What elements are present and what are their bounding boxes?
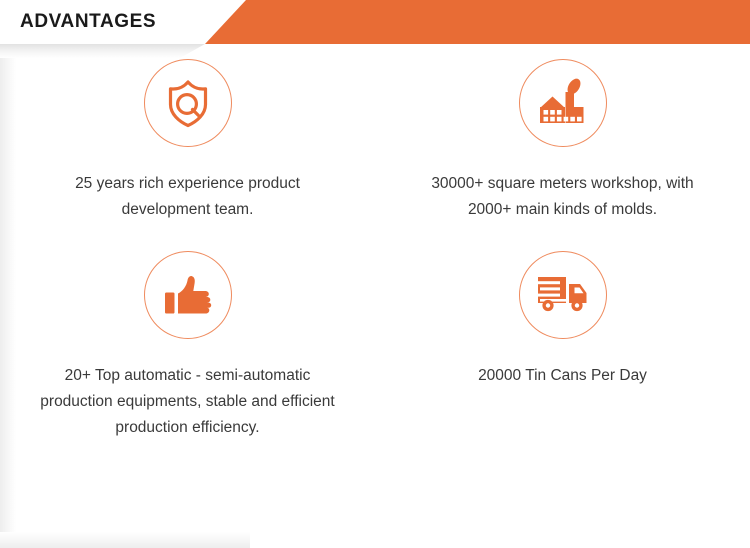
advantage-caption: 30000+ square meters workshop, with 2000… [408,171,718,223]
section-header-banner: ADVANTAGES [0,0,750,44]
advantages-row: 20+ Top automatic - semi-automatic produ… [0,250,750,450]
shield-quality-icon [162,77,214,129]
icon-circle-equipment [144,251,232,339]
delivery-truck-icon [536,273,590,317]
advantage-caption: 25 years rich experience product develop… [35,171,341,223]
advantage-caption: 20+ Top automatic - semi-automatic produ… [35,363,341,441]
advantage-item-capacity: 20000 Tin Cans Per Day [375,250,750,450]
icon-circle-quality [144,59,232,147]
advantage-item-equipment: 20+ Top automatic - semi-automatic produ… [0,250,375,450]
icon-circle-workshop [519,59,607,147]
advantages-page: ADVANTAGES 25 years rich experience prod… [0,0,750,548]
advantages-grid: 25 years rich experience product develop… [0,58,750,450]
page-title: ADVANTAGES [20,0,156,44]
page-bottom-edge-shading [0,532,250,548]
advantages-row: 25 years rich experience product develop… [0,58,750,250]
advantage-item-quality: 25 years rich experience product develop… [0,58,375,250]
banner-tab-shadow [0,44,245,58]
icon-circle-capacity [519,251,607,339]
advantage-item-workshop: 30000+ square meters workshop, with 2000… [375,58,750,250]
factory-icon [536,77,590,129]
thumbs-up-icon [162,270,214,320]
advantage-caption: 20000 Tin Cans Per Day [408,363,718,389]
